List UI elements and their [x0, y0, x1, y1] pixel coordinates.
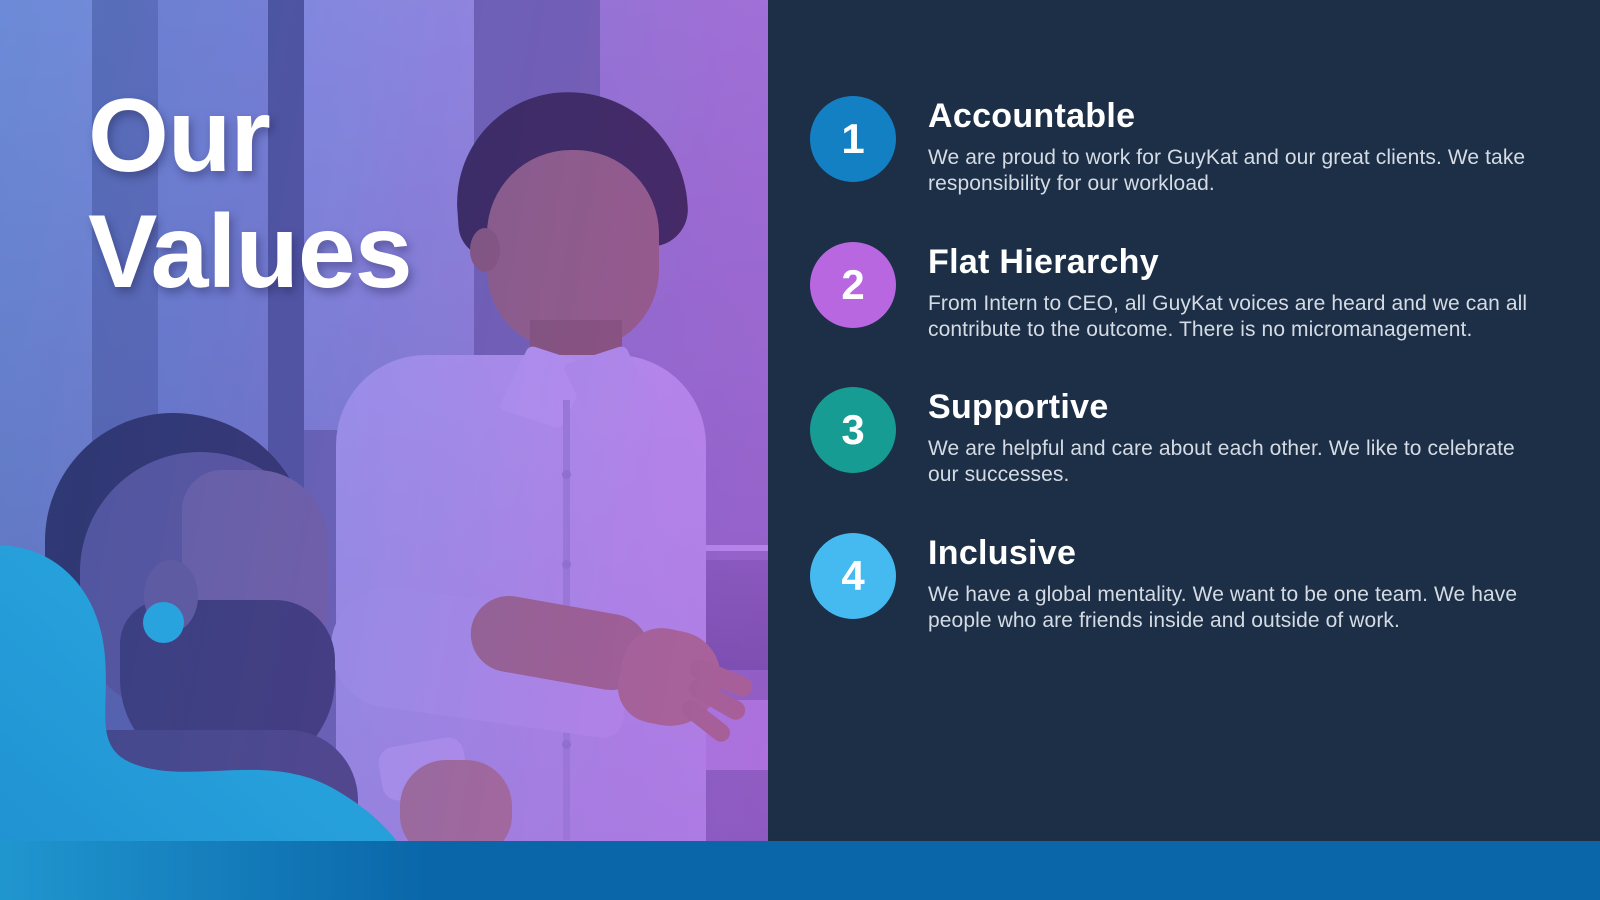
value-number-badge-3: 3 [810, 387, 896, 473]
value-item: 3 Supportive We are helpful and care abo… [810, 387, 1530, 489]
value-number-badge-4: 4 [810, 533, 896, 619]
decorative-accent-circle [143, 602, 184, 643]
value-number-3: 3 [841, 409, 864, 451]
values-list-panel: 1 Accountable We are proud to work for G… [768, 0, 1600, 841]
value-title-2: Flat Hierarchy [928, 243, 1528, 282]
page-title-line-1: Our [88, 78, 728, 194]
value-description-1: We are proud to work for GuyKat and our … [928, 145, 1528, 197]
value-item: 2 Flat Hierarchy From Intern to CEO, all… [810, 242, 1530, 344]
value-description-2: From Intern to CEO, all GuyKat voices ar… [928, 291, 1528, 343]
value-title-3: Supportive [928, 388, 1528, 427]
value-text-block: Accountable We are proud to work for Guy… [928, 96, 1528, 198]
value-number-1: 1 [841, 118, 864, 160]
value-number-badge-1: 1 [810, 96, 896, 182]
slide-canvas: Our Values 1 Accountable We are proud to… [0, 0, 1600, 900]
footer-bar-gradient-accent [0, 841, 430, 900]
value-text-block: Inclusive We have a global mentality. We… [928, 533, 1528, 635]
value-item: 4 Inclusive We have a global mentality. … [810, 533, 1530, 635]
value-title-1: Accountable [928, 97, 1528, 136]
value-number-4: 4 [841, 555, 864, 597]
value-number-badge-2: 2 [810, 242, 896, 328]
page-title-line-2: Values [88, 194, 728, 310]
value-text-block: Flat Hierarchy From Intern to CEO, all G… [928, 242, 1528, 344]
value-description-3: We are helpful and care about each other… [928, 436, 1528, 488]
page-title: Our Values [88, 78, 728, 311]
value-number-2: 2 [841, 264, 864, 306]
value-item: 1 Accountable We are proud to work for G… [810, 96, 1530, 198]
value-title-4: Inclusive [928, 534, 1528, 573]
value-description-4: We have a global mentality. We want to b… [928, 582, 1528, 634]
value-text-block: Supportive We are helpful and care about… [928, 387, 1528, 489]
